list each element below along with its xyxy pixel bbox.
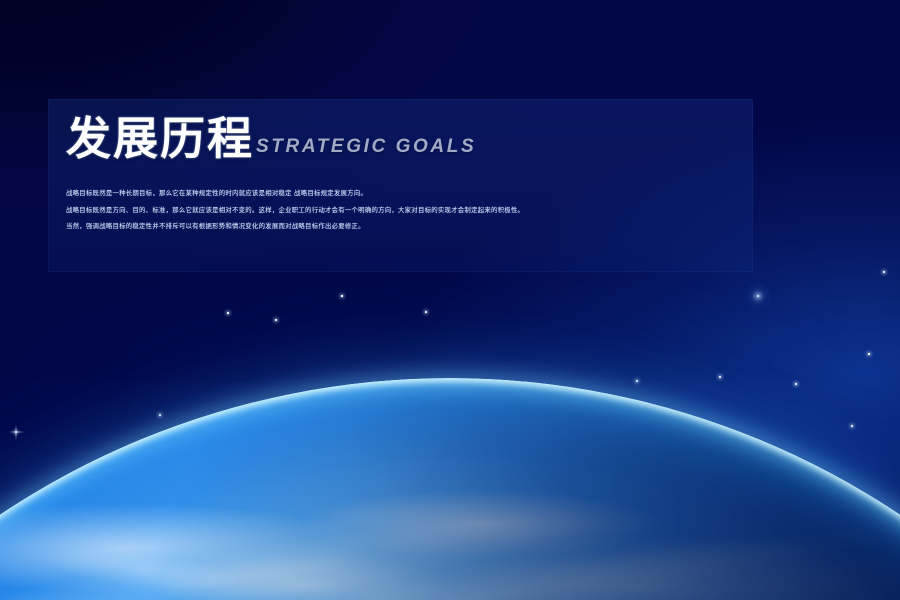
body-line: 当然，强调战略目标的稳定性并不排斥可以有根据形势和情况变化的发展而对战略目标作出… xyxy=(66,218,856,235)
page-subtitle: STRATEGIC GOALS xyxy=(256,136,476,158)
body-line: 战略目标既然是方向、目的、标准，那么它就应该是相对不变的。这样，企业职工的行动才… xyxy=(66,202,856,219)
headline-group: 发展历程 STRATEGIC GOALS xyxy=(66,116,476,161)
body-line: 战略目标既然是一种长期目标，那么它在某种规定性的时内就应该是相对稳定 战略目标规… xyxy=(66,185,856,202)
page-title: 发展历程 xyxy=(66,116,254,161)
body-copy: 战略目标既然是一种长期目标，那么它在某种规定性的时内就应该是相对稳定 战略目标规… xyxy=(66,185,856,235)
strategic-goals-banner: 发展历程 STRATEGIC GOALS 战略目标既然是一种长期目标，那么它在某… xyxy=(0,0,900,600)
